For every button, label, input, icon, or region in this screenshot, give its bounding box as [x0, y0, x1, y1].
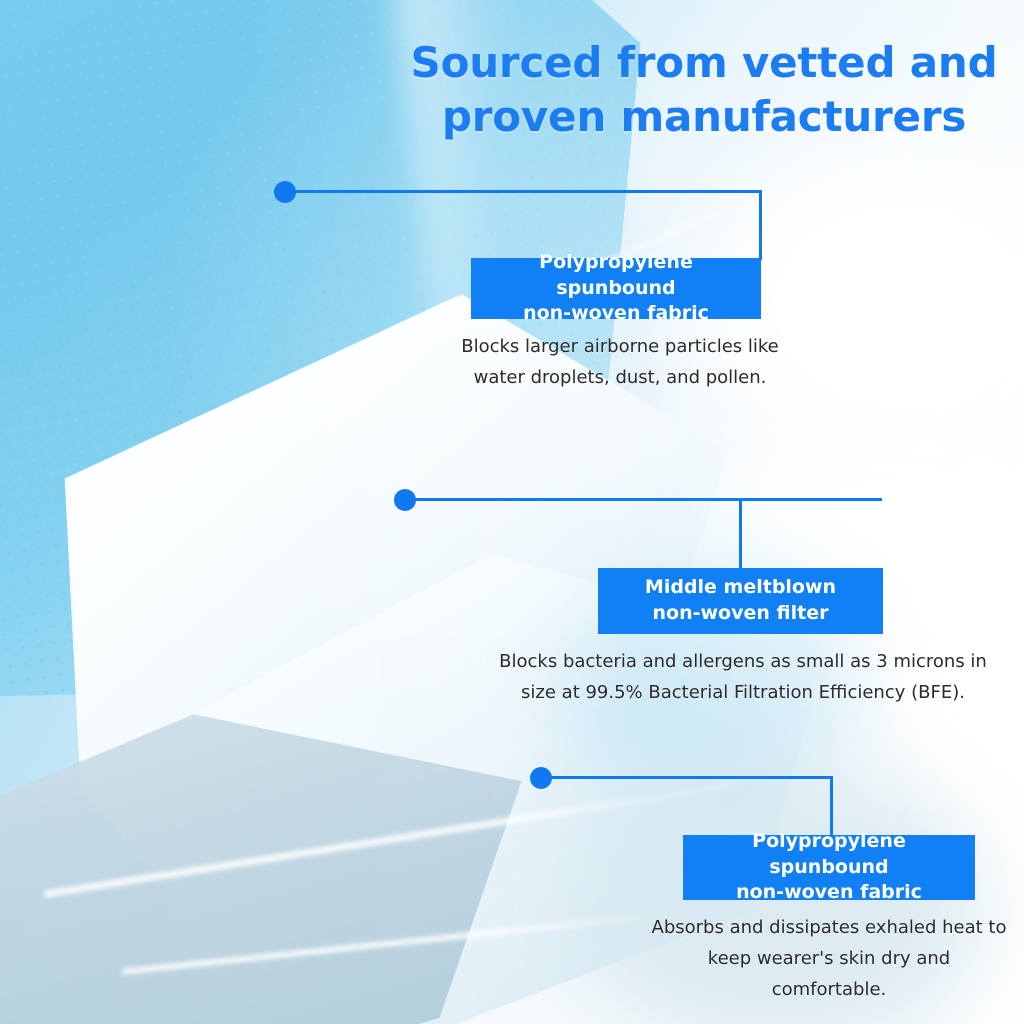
callout-2-label-line-2: non-woven filter [645, 601, 836, 627]
callout-3-label-box: Polypropylene spunbound non-woven fabric [683, 835, 975, 900]
callout-1-label-box: Polypropylene spunbound non-woven fabric [471, 258, 761, 319]
callout-3-vertical-line [830, 776, 833, 836]
callout-2-dot [394, 489, 416, 511]
callout-3-label-line-1: Polypropylene spunbound [693, 829, 965, 880]
callout-3-dot [530, 767, 552, 789]
infographic-canvas: Sourced from vetted and proven manufactu… [0, 0, 1024, 1024]
callout-3-label-line-2: non-woven fabric [693, 880, 965, 906]
callout-1-label-line-2: non-woven fabric [481, 301, 751, 327]
callout-2-desc-line-2: size at 99.5% Bacterial Filtration Effic… [495, 678, 991, 709]
callout-3-description: Absorbs and dissipates exhaled heat to k… [650, 913, 1008, 1006]
callout-2-desc-line-1: Blocks bacteria and allergens as small a… [495, 647, 991, 678]
callout-1-horizontal-line [294, 190, 762, 193]
title-line-1: Sourced from vetted and [404, 36, 1004, 90]
callout-1-desc-line-1: Blocks larger airborne particles like [440, 332, 800, 363]
callout-3-horizontal-line [550, 776, 833, 779]
callout-2-vertical-line [739, 498, 742, 570]
callout-2-label-line-1: Middle meltblown [645, 575, 836, 601]
callout-2-horizontal-line [414, 498, 882, 501]
callout-2-label-box: Middle meltblown non-woven filter [598, 568, 883, 634]
callout-1-vertical-line [759, 190, 762, 260]
page-title: Sourced from vetted and proven manufactu… [404, 36, 1004, 144]
callout-1-description: Blocks larger airborne particles like wa… [440, 332, 800, 394]
callout-3-desc-line-2: keep wearer's skin dry and comfortable. [650, 944, 1008, 1006]
title-line-2: proven manufacturers [404, 90, 1004, 144]
callout-1-dot [274, 181, 296, 203]
callout-1-label-line-1: Polypropylene spunbound [481, 250, 751, 301]
callout-2-description: Blocks bacteria and allergens as small a… [495, 647, 991, 709]
callout-3-desc-line-1: Absorbs and dissipates exhaled heat to [650, 913, 1008, 944]
callout-1-desc-line-2: water droplets, dust, and pollen. [440, 363, 800, 394]
